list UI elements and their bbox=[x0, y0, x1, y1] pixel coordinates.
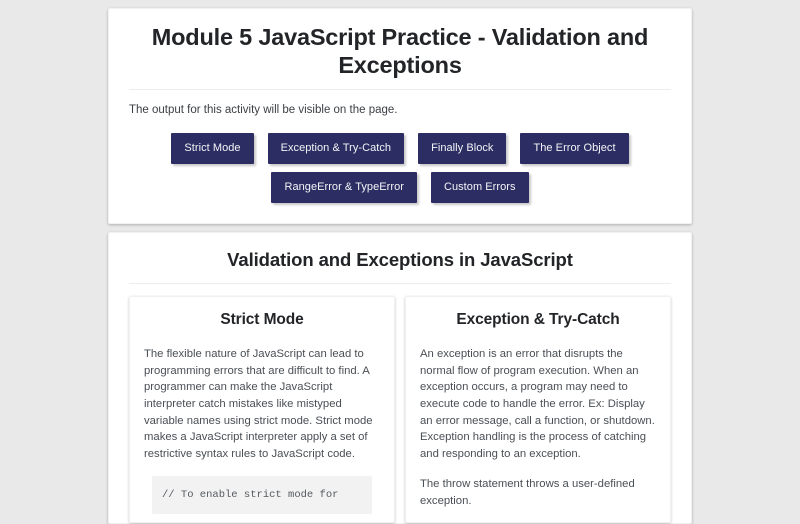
nav-button-group: Strict Mode Exception & Try-Catch Finall… bbox=[129, 133, 671, 203]
card-title-exception-try-catch: Exception & Try-Catch bbox=[420, 311, 656, 330]
card-paragraph: The throw statement throws a user-define… bbox=[420, 476, 656, 509]
intro-text: The output for this activity will be vis… bbox=[129, 102, 671, 119]
code-block-strict-mode: // To enable strict mode for bbox=[152, 476, 372, 514]
content-card-grid: Strict Mode The flexible nature of JavaS… bbox=[129, 296, 671, 523]
button-exception-try-catch[interactable]: Exception & Try-Catch bbox=[268, 133, 404, 164]
button-the-error-object[interactable]: The Error Object bbox=[520, 133, 628, 164]
card-exception-try-catch: Exception & Try-Catch An exception is an… bbox=[405, 296, 671, 523]
card-strict-mode: Strict Mode The flexible nature of JavaS… bbox=[129, 296, 395, 523]
card-paragraph: An exception is an error that disrupts t… bbox=[420, 346, 656, 463]
card-paragraph: The flexible nature of JavaScript can le… bbox=[144, 346, 380, 463]
content-panel: Validation and Exceptions in JavaScript … bbox=[108, 232, 692, 524]
nav-button-row-2: RangeError & TypeError Custom Errors bbox=[129, 172, 671, 203]
button-finally-block[interactable]: Finally Block bbox=[418, 133, 506, 164]
card-title-strict-mode: Strict Mode bbox=[144, 311, 380, 330]
button-rangeerror-typeerror[interactable]: RangeError & TypeError bbox=[271, 172, 417, 203]
page-root: Module 5 JavaScript Practice - Validatio… bbox=[0, 0, 800, 524]
nav-button-row-1: Strict Mode Exception & Try-Catch Finall… bbox=[129, 133, 671, 164]
button-custom-errors[interactable]: Custom Errors bbox=[431, 172, 529, 203]
header-panel: Module 5 JavaScript Practice - Validatio… bbox=[108, 8, 692, 224]
button-strict-mode[interactable]: Strict Mode bbox=[171, 133, 253, 164]
page-title: Module 5 JavaScript Practice - Validatio… bbox=[129, 23, 671, 90]
section-title: Validation and Exceptions in JavaScript bbox=[129, 247, 671, 284]
